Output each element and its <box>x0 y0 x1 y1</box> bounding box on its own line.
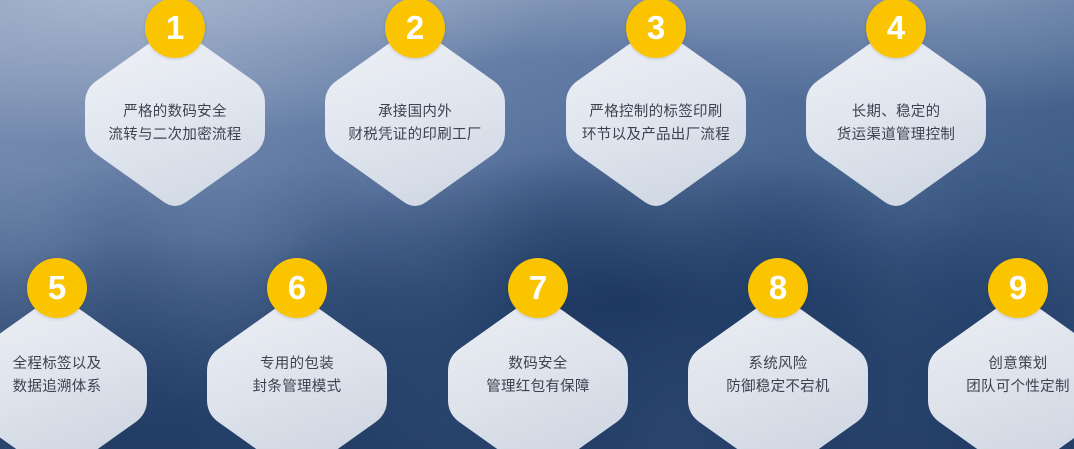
hexagon-card-5[interactable]: 全程标签以及数据追溯体系 <box>0 293 147 449</box>
step-number-badge-3[interactable]: 3 <box>626 0 686 58</box>
hexagon-shape <box>928 293 1074 449</box>
infographic-canvas: 严格的数码安全流转与二次加密流程1承接国内外财税凭证的印刷工厂2严格控制的标签印… <box>0 0 1074 449</box>
step-number-badge-5[interactable]: 5 <box>27 258 87 318</box>
step-number-badge-4[interactable]: 4 <box>866 0 926 58</box>
hexagon-shape <box>0 293 147 449</box>
step-number-badge-6[interactable]: 6 <box>267 258 327 318</box>
hexagon-card-9[interactable]: 创意策划团队可个性定制 <box>928 293 1074 449</box>
step-number-badge-7[interactable]: 7 <box>508 258 568 318</box>
step-number-badge-1[interactable]: 1 <box>145 0 205 58</box>
step-number-badge-8[interactable]: 8 <box>748 258 808 318</box>
step-number-badge-2[interactable]: 2 <box>385 0 445 58</box>
step-number-badge-9[interactable]: 9 <box>988 258 1048 318</box>
